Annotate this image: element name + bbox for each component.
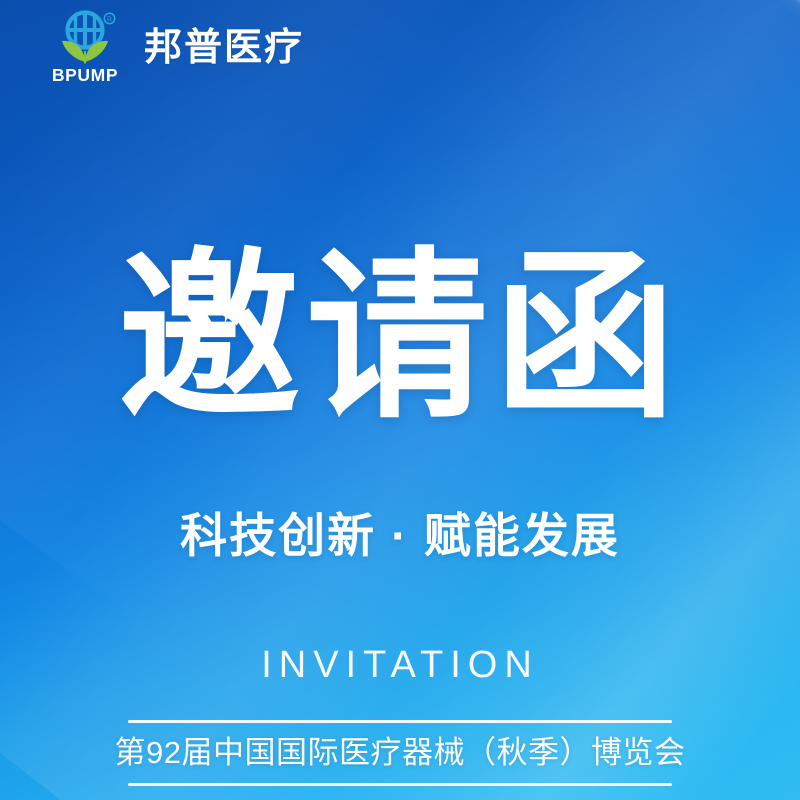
svg-text:R: R [107, 17, 112, 24]
main-title-container: 邀请函 [0, 246, 800, 428]
invitation-en-container: INVITATION [0, 643, 800, 689]
company-name: 邦普医疗 [144, 29, 304, 67]
divider-line-top [128, 720, 672, 723]
event-name-block: 第92届中国国际医疗器械（秋季）博览会 [0, 720, 800, 786]
main-title: 邀请函 [118, 246, 682, 428]
invitation-poster: R BPUMP 邦普医疗 邀请函 科技创新 · 赋能发展 INVITATION … [0, 0, 800, 800]
subtitle-slogan: 科技创新 · 赋能发展 [180, 508, 620, 564]
bpump-wordmark: BPUMP [52, 65, 118, 85]
event-name: 第92届中国国际医疗器械（秋季）博览会 [115, 734, 686, 773]
divider-line-bottom [128, 783, 672, 786]
invitation-english-label: INVITATION [261, 643, 539, 689]
subtitle-container: 科技创新 · 赋能发展 [0, 508, 800, 564]
bpump-logo-icon: R BPUMP [52, 10, 126, 86]
brand-lockup: R BPUMP 邦普医疗 [52, 10, 304, 86]
